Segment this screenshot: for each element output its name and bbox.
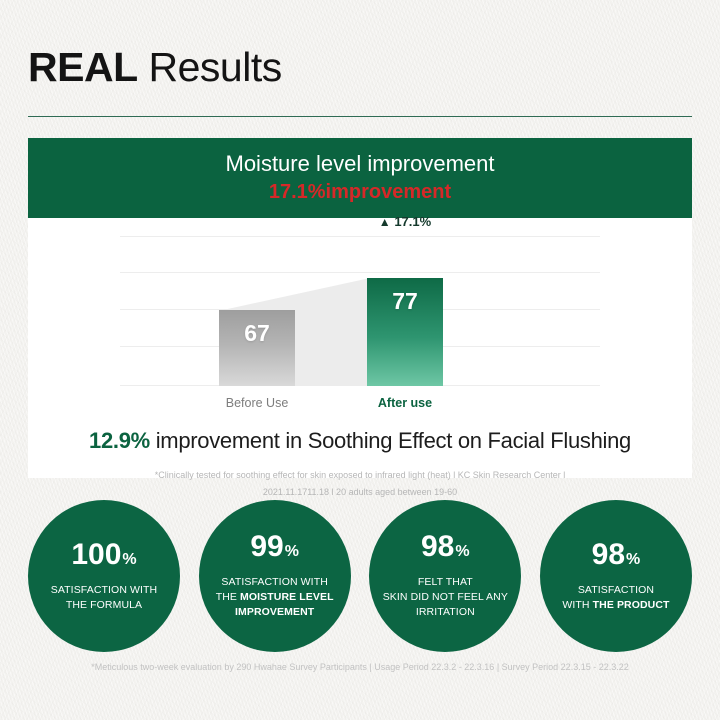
stat-number: 100 [71,538,121,571]
stat-label-line-2: SKIN DID NOT FEEL ANY IRRITATION [383,591,508,618]
stat-circle-irritation: 98% FELT THAT SKIN DID NOT FEEL ANY IRRI… [369,500,521,652]
stat-value: 100% [71,540,136,570]
stat-label-emphasis: THE PRODUCT [593,599,670,611]
card-footnote: *Clinically tested for soothing effect f… [28,467,692,501]
page-title: REAL Results [28,44,282,91]
stat-circle-group: 100% SATISFACTION WITH THE FORMULA 99% S… [28,500,692,652]
stat-unit: % [285,543,299,560]
bar-chart: 67 77 ▲ 17.1% [120,236,600,386]
stat-value: 98% [421,532,470,562]
card-banner: Moisture level improvement 17.1%improvem… [28,138,692,218]
stat-label: SATISFACTION WITH THE FORMULA [51,583,158,613]
banner-subtitle: 17.1%improvement [269,179,451,205]
stat-unit: % [455,543,469,560]
stat-number: 98 [592,538,625,571]
stat-circle-moisture: 99% SATISFACTION WITH THE MOISTURE LEVEL… [199,500,351,652]
results-card: Moisture level improvement 17.1%improvem… [28,138,692,478]
stat-circle-product: 98% SATISFACTION WITH THE PRODUCT [540,500,692,652]
stat-label-line-2: THE FORMULA [66,599,142,611]
stat-label-line-1: FELT THAT [418,576,473,588]
page-root: REAL Results Moisture level improvement … [0,0,720,720]
stat-label-line-1: SATISFACTION [578,584,654,596]
stat-label-line-2: THE [216,591,240,603]
card-caption: 12.9% improvement in Soothing Effect on … [28,428,692,454]
axis-label-before-use: Before Use [202,396,312,410]
stat-label-line-2: WITH [562,599,592,611]
page-title-light: Results [138,44,282,90]
caption-text: improvement in Soothing Effect on Facial… [150,428,631,453]
stat-number: 98 [421,530,454,563]
bar-before-use: 67 [219,310,295,386]
stat-value: 99% [250,532,299,562]
stat-unit: % [626,551,640,568]
chart-axis-labels: Before Use After use [120,394,600,414]
delta-value: 17.1% [394,214,431,229]
stat-label: SATISFACTION WITH THE MOISTURE LEVEL IMP… [209,575,341,620]
stat-value: 98% [592,540,641,570]
footer-note: *Meticulous two-week evaluation by 290 H… [0,662,720,672]
stat-label: FELT THAT SKIN DID NOT FEEL ANY IRRITATI… [379,575,511,620]
page-title-bold: REAL [28,44,138,90]
stat-unit: % [122,551,136,568]
axis-label-after-use: After use [350,396,460,410]
header-divider [28,116,692,117]
chart-bars: 67 77 ▲ 17.1% [120,236,600,386]
bar-before-value: 67 [244,320,270,386]
stat-label-emphasis: MOISTURE LEVEL IMPROVEMENT [235,591,334,618]
bar-after-use: 77 [367,278,443,386]
stat-label-line-1: SATISFACTION WITH [221,576,328,588]
stat-circle-formula: 100% SATISFACTION WITH THE FORMULA [28,500,180,652]
banner-title: Moisture level improvement [226,151,495,176]
card-footnote-line-1: *Clinically tested for soothing effect f… [28,467,692,484]
card-footnote-line-2: 2021.11.1711.18 l 20 adults aged between… [28,484,692,501]
delta-badge: ▲ 17.1% [367,214,443,229]
triangle-up-icon: ▲ [379,215,391,229]
stat-label-line-1: SATISFACTION WITH [51,584,158,596]
bar-after-value: 77 [392,288,418,386]
caption-percent: 12.9% [89,428,150,453]
stat-number: 99 [250,530,283,563]
stat-label: SATISFACTION WITH THE PRODUCT [562,583,669,613]
